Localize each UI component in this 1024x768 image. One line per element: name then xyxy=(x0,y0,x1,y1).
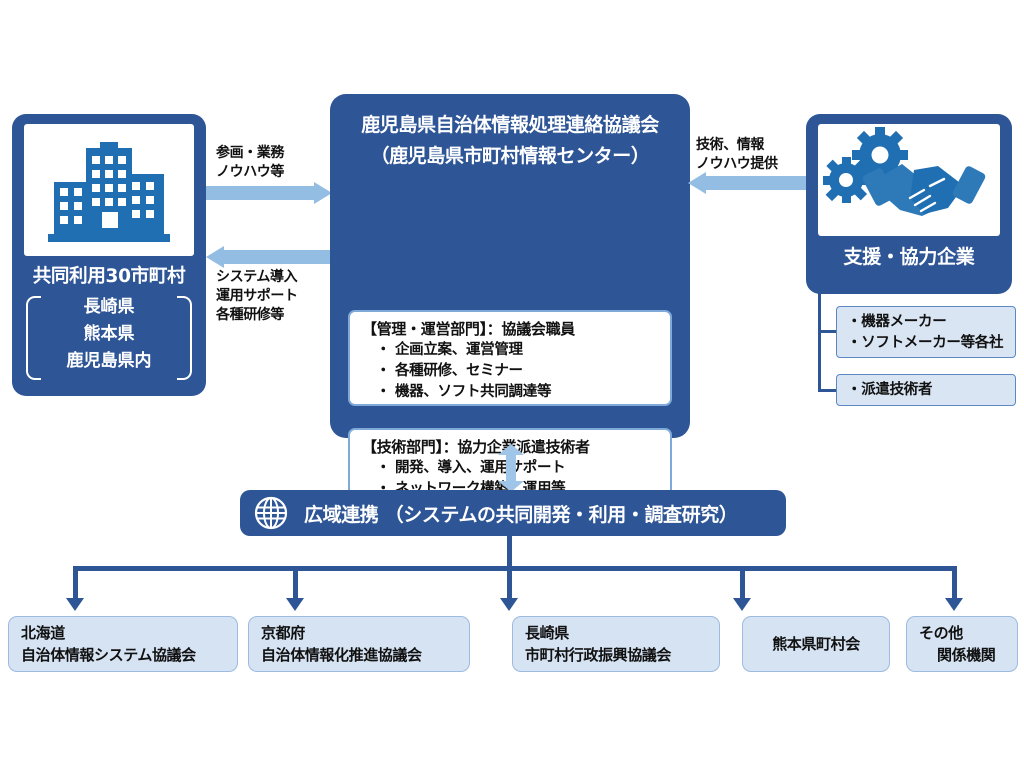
partner-companies-panel: 支援・協力企業 xyxy=(806,114,1012,294)
participate-arrow-icon xyxy=(206,182,332,204)
prefecture-item: 長崎県 xyxy=(46,294,172,321)
partner-subbox-makers: ・機器メーカー ・ソフトメーカー等各社 xyxy=(836,306,1016,358)
prefecture-item: 鹿児島県内 xyxy=(46,348,172,375)
subbox-line: ・機器メーカー xyxy=(847,312,1007,333)
council-main-panel: 鹿児島県自治体情報処理連絡協議会 （鹿児島県市町村情報センター） 【管理・運営部… xyxy=(330,94,690,438)
org-line2: 市町村行政振興協議会 xyxy=(525,644,713,666)
prefecture-item: 熊本県 xyxy=(46,321,172,348)
text-line: ノウハウ等 xyxy=(216,163,284,182)
tree-drop-arrowhead xyxy=(286,598,304,611)
tree-drop xyxy=(73,566,78,602)
participate-arrow-text: 参画・業務 ノウハウ等 xyxy=(216,144,284,182)
prefecture-bracket-group: 長崎県 熊本県 鹿児島県内 xyxy=(26,294,192,382)
bracket-right-icon xyxy=(177,296,192,380)
related-org-box-kumamoto: 熊本県町村会 xyxy=(742,616,890,672)
wide-area-cooperation-bar: 広域連携 （システムの共同開発・利用・調査研究） xyxy=(240,490,786,536)
partner-panel-title: 支援・協力企業 xyxy=(806,242,1012,269)
org-line1: その他 xyxy=(919,622,1011,644)
org-line1: 京都府 xyxy=(261,622,463,644)
tree-drop xyxy=(293,566,298,602)
prefecture-list: 長崎県 熊本県 鹿児島県内 xyxy=(46,294,172,375)
globe-icon xyxy=(254,496,288,534)
text-line: 参画・業務 xyxy=(216,144,284,163)
wide-area-cooperation-label: 広域連携 （システムの共同開発・利用・調査研究） xyxy=(304,500,737,527)
org-line1: 北海道 xyxy=(21,622,231,644)
tree-drop xyxy=(952,566,957,602)
tree-drop xyxy=(507,566,512,602)
text-line: 技術、情報 xyxy=(696,136,778,155)
text-line: 運用サポート xyxy=(216,287,298,306)
management-item: ・ 機器、ソフト共同調達等 xyxy=(362,382,660,403)
office-buildings-icon xyxy=(24,124,194,256)
management-item: ・ 企画立案、運営管理 xyxy=(362,340,660,361)
vertical-double-arrow-icon xyxy=(498,444,524,492)
handshake-gears-icon xyxy=(818,124,1000,236)
support-arrow-icon xyxy=(206,246,332,268)
org-line1: 長崎県 xyxy=(525,622,713,644)
related-org-box-nagasaki: 長崎県 市町村行政振興協議会 xyxy=(512,616,720,672)
tree-stem xyxy=(507,536,512,568)
management-division-box: 【管理・運営部門】：協議会職員 ・ 企画立案、運営管理 ・ 各種研修、セミナー … xyxy=(348,310,672,406)
tree-drop xyxy=(740,566,745,602)
tree-drop-arrowhead xyxy=(66,598,84,611)
org-line2: 自治体情報システム協議会 xyxy=(21,644,231,666)
council-title-line2: （鹿児島県市町村情報センター） xyxy=(338,141,682,172)
org-line2: 関係機関 xyxy=(919,644,1011,666)
technology-arrow-icon xyxy=(688,172,808,194)
text-line: 各種研修等 xyxy=(216,306,298,325)
tree-drop-arrowhead xyxy=(733,598,751,611)
text-line: システム導入 xyxy=(216,268,298,287)
council-title: 鹿児島県自治体情報処理連絡協議会 （鹿児島県市町村情報センター） xyxy=(338,110,682,172)
council-title-line1: 鹿児島県自治体情報処理連絡協議会 xyxy=(338,110,682,141)
support-arrow-text: システム導入 運用サポート 各種研修等 xyxy=(216,268,298,325)
left-panel-title: 共同利用30市町村 xyxy=(12,262,206,288)
related-org-box-other: その他 関係機関 xyxy=(906,616,1018,672)
partner-connector-vertical xyxy=(818,288,821,392)
subbox-line: ・派遣技術者 xyxy=(847,380,1007,401)
management-heading: 【管理・運営部門】：協議会職員 xyxy=(362,319,660,340)
shared-use-municipalities-panel: 共同利用30市町村 長崎県 熊本県 鹿児島県内 xyxy=(12,114,206,396)
technology-arrow-text: 技術、情報 ノウハウ提供 xyxy=(696,136,778,174)
related-org-box-kyoto: 京都府 自治体情報化推進協議会 xyxy=(248,616,470,672)
tree-drop-arrowhead xyxy=(945,598,963,611)
tree-bus xyxy=(73,566,957,571)
subbox-line: ・ソフトメーカー等各社 xyxy=(847,333,1007,354)
tree-drop-arrowhead xyxy=(500,598,518,611)
org-line2: 自治体情報化推進協議会 xyxy=(261,644,463,666)
text-line: ノウハウ提供 xyxy=(696,155,778,174)
management-item: ・ 各種研修、セミナー xyxy=(362,361,660,382)
bracket-left-icon xyxy=(26,296,41,380)
partner-connector-branch xyxy=(818,389,838,392)
org-line1: 熊本県町村会 xyxy=(772,633,860,655)
partner-subbox-engineers: ・派遣技術者 xyxy=(836,374,1016,406)
related-org-box-hokkaido: 北海道 自治体情報システム協議会 xyxy=(8,616,238,672)
partner-connector-branch xyxy=(818,330,838,333)
